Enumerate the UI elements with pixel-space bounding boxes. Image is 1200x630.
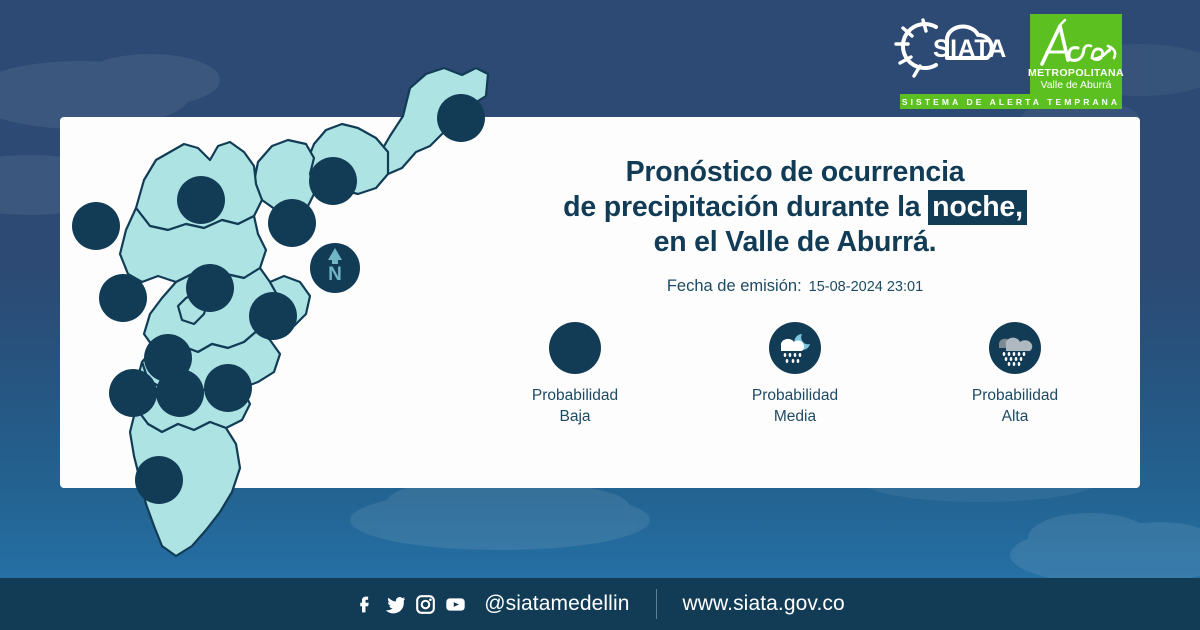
area-metropolitana-logo: METROPOLITANA Valle de Aburrá [1030, 14, 1122, 94]
youtube-icon[interactable] [445, 594, 466, 615]
area-wordmark-icon [1034, 18, 1118, 72]
social-links [355, 594, 466, 615]
map-marker-baja-5[interactable] [99, 274, 147, 322]
twitter-icon[interactable] [385, 594, 406, 615]
marker-circle [72, 202, 120, 250]
moon-icon [549, 322, 601, 374]
legend-media-line1: Probabilidad [752, 385, 838, 406]
legend-alta-line2: Alta [972, 406, 1058, 427]
legend-item-media[interactable]: Probabilidad Media [725, 322, 865, 427]
map-marker-baja-6[interactable] [186, 264, 234, 312]
legend-baja-line2: Baja [532, 406, 618, 427]
emission-date-value: 15-08-2024 23:01 [809, 279, 924, 295]
title-line-2-text: de precipitación durante la [563, 191, 928, 223]
legend-baja-line1: Probabilidad [532, 385, 618, 406]
map-marker-baja-12[interactable] [135, 456, 183, 504]
title-highlight-noche: noche, [928, 190, 1027, 225]
tagline-banner: SISTEMA DE ALERTA TEMPRANA [900, 94, 1122, 109]
probability-legend: Probabilidad Baja Proba [470, 322, 1120, 427]
header-logos: SIATA METROPOLITANA Valle de Aburrá [892, 14, 1122, 94]
marker-circle [177, 176, 225, 224]
legend-label-media: Probabilidad Media [752, 385, 838, 427]
marker-circle [156, 369, 204, 417]
map-marker-baja-10[interactable] [109, 369, 157, 417]
social-handle[interactable]: @siatamedellin [484, 592, 629, 616]
instagram-icon[interactable] [415, 594, 436, 615]
map-marker-baja-0[interactable] [437, 94, 485, 142]
marker-circle [109, 369, 157, 417]
map-marker-baja-3[interactable] [177, 176, 225, 224]
footer-bar: @siatamedellin www.siata.gov.co [0, 578, 1200, 630]
siata-logo: SIATA [892, 14, 1022, 88]
map-marker-baja-11[interactable] [204, 364, 252, 412]
map-marker-baja-2[interactable] [268, 199, 316, 247]
title-line-2: de precipitación durante la noche, [470, 190, 1120, 225]
map-marker-baja-4[interactable] [72, 202, 120, 250]
legend-media-line2: Media [752, 406, 838, 427]
legend-item-baja[interactable]: Probabilidad Baja [505, 322, 645, 427]
marker-circle [309, 157, 357, 205]
map-svg: N [58, 48, 488, 578]
compass-label: N [328, 264, 342, 285]
legend-item-alta[interactable]: Probabilidad Alta [945, 322, 1085, 427]
emission-date-label: Fecha de emisión: [667, 277, 802, 296]
map-marker-baja-9[interactable] [156, 369, 204, 417]
legend-label-alta: Probabilidad Alta [972, 385, 1058, 427]
cloud-moon-rain-icon [769, 322, 821, 374]
website-url[interactable]: www.siata.gov.co [683, 592, 845, 616]
footer-divider [656, 589, 657, 619]
legend-label-baja: Probabilidad Baja [532, 385, 618, 427]
marker-circle [437, 94, 485, 142]
title-line-1: Pronóstico de ocurrencia [470, 155, 1120, 190]
map-marker-baja-7[interactable] [249, 292, 297, 340]
page-title: Pronóstico de ocurrencia de precipitació… [470, 155, 1120, 260]
title-line-3: en el Valle de Aburrá. [470, 225, 1120, 260]
compass-north-icon: N [310, 243, 360, 293]
emission-date: Fecha de emisión: 15-08-2024 23:01 [470, 277, 1120, 296]
marker-circle [268, 199, 316, 247]
cloud-heavy-rain-icon [989, 322, 1041, 374]
valle-de-aburra-map[interactable]: N [58, 48, 488, 578]
marker-circle [135, 456, 183, 504]
marker-circle [249, 292, 297, 340]
forecast-content: Pronóstico de ocurrencia de precipitació… [470, 155, 1120, 427]
marker-circle [99, 274, 147, 322]
legend-alta-line1: Probabilidad [972, 385, 1058, 406]
area-logo-line2: Valle de Aburrá [1040, 79, 1111, 91]
facebook-icon[interactable] [355, 594, 376, 615]
map-marker-baja-1[interactable] [309, 157, 357, 205]
marker-circle [204, 364, 252, 412]
tagline-text: SISTEMA DE ALERTA TEMPRANA [902, 97, 1120, 107]
marker-circle [186, 264, 234, 312]
svg-text:SIATA: SIATA [933, 35, 1007, 63]
